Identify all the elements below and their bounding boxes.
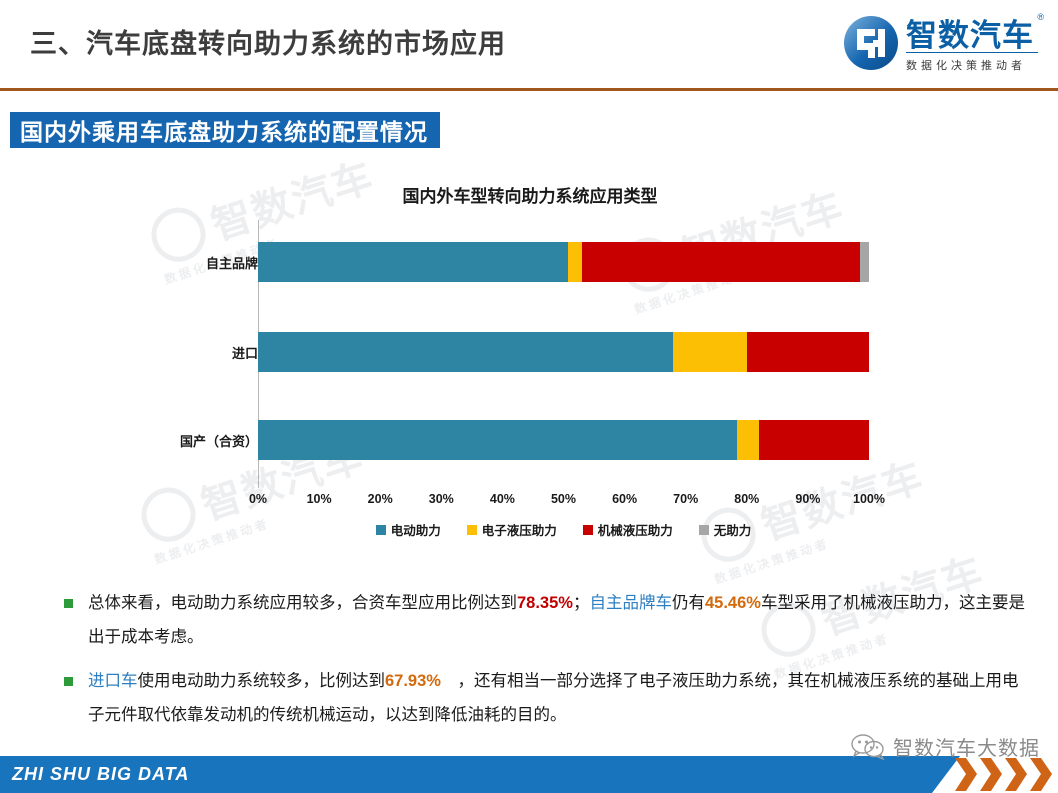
chart-bar-segment bbox=[258, 242, 568, 282]
chart-x-tick-label: 20% bbox=[368, 492, 393, 506]
chart-bar bbox=[258, 332, 869, 372]
brand-logo: 智数汽车 ® 数据化决策推动者 bbox=[842, 8, 1042, 82]
logo-emblem-icon bbox=[842, 14, 900, 72]
highlighted-text-run: 进口车 bbox=[88, 672, 138, 690]
chart-bar-segment bbox=[582, 242, 860, 282]
header-divider-rule bbox=[0, 88, 1058, 91]
logo-divider bbox=[906, 52, 1038, 53]
chart-bar-segment bbox=[258, 332, 673, 372]
chart-bar-segment bbox=[673, 332, 747, 372]
wechat-account-strip: 智数汽车大数据 bbox=[851, 732, 1040, 761]
bullet-text: 总体来看，电动助力系统应用较多，合资车型应用比例达到78.35%；自主品牌车仍有… bbox=[88, 594, 1025, 646]
chart-legend-item[interactable]: 电动助力 bbox=[376, 520, 441, 539]
chart-container: 国内外车型转向助力系统应用类型 自主品牌进口国产（合资） 0%10%20%30%… bbox=[130, 182, 920, 557]
chart-legend-item[interactable]: 机械液压助力 bbox=[583, 520, 673, 539]
highlighted-text-run: 78.35% bbox=[517, 594, 573, 612]
bullet-item: 进口车使用电动助力系统较多，比例达到67.93% ，还有相当一部分选择了电子液压… bbox=[62, 664, 1027, 732]
chevron-right-icon bbox=[1030, 758, 1052, 791]
chart-legend-swatch bbox=[699, 525, 709, 535]
wechat-icon bbox=[851, 734, 885, 760]
chart-bar-segment bbox=[759, 420, 869, 460]
footer-label: ZHI SHU BIG DATA bbox=[12, 764, 189, 785]
chevron-right-icon bbox=[1005, 758, 1027, 791]
chart-bar bbox=[258, 242, 869, 282]
logo-registered-mark: ® bbox=[1037, 12, 1044, 22]
chart-title: 国内外车型转向助力系统应用类型 bbox=[140, 182, 920, 207]
chart-legend-label: 无助力 bbox=[714, 520, 752, 539]
chart-x-tick-label: 0% bbox=[249, 492, 267, 506]
chart-bar-segment bbox=[258, 420, 737, 460]
wechat-account-label: 智数汽车大数据 bbox=[893, 732, 1040, 761]
text-run: 总体来看，电动助力系统应用较多，合资车型应用比例达到 bbox=[88, 594, 517, 612]
chart-bar-segment bbox=[737, 420, 759, 460]
chart-x-tick-label: 70% bbox=[673, 492, 698, 506]
bullet-item: 总体来看，电动助力系统应用较多，合资车型应用比例达到78.35%；自主品牌车仍有… bbox=[62, 586, 1027, 654]
chart-bar-segment bbox=[860, 242, 869, 282]
chart-legend: 电动助力电子液压助力机械液压助力无助力 bbox=[258, 520, 869, 539]
chart-x-axis-ticks: 0%10%20%30%40%50%60%70%80%90%100% bbox=[258, 492, 869, 512]
chart-legend-swatch bbox=[376, 525, 386, 535]
chart-x-tick-label: 80% bbox=[734, 492, 759, 506]
chart-bar-segment bbox=[568, 242, 582, 282]
chart-x-tick-label: 10% bbox=[307, 492, 332, 506]
chart-x-tick-label: 60% bbox=[612, 492, 637, 506]
page-title: 三、汽车底盘转向助力系统的市场应用 bbox=[30, 22, 506, 61]
text-run: ； bbox=[573, 594, 590, 612]
highlighted-text-run: 45.46% bbox=[705, 594, 761, 612]
section-banner-label: 国内外乘用车底盘助力系统的配置情况 bbox=[20, 113, 428, 147]
page-header: 三、汽车底盘转向助力系统的市场应用 智数汽车 ® 数据化决策推动者 bbox=[0, 0, 1058, 86]
chevron-right-icon bbox=[980, 758, 1002, 791]
text-run: 使用电动助力系统较多，比例达到 bbox=[138, 672, 386, 690]
bullet-square-icon bbox=[64, 677, 73, 686]
chart-legend-swatch bbox=[583, 525, 593, 535]
bullet-text: 进口车使用电动助力系统较多，比例达到67.93% ，还有相当一部分选择了电子液压… bbox=[88, 672, 1018, 724]
chart-category-label: 国产（合资） bbox=[180, 431, 258, 450]
footer-chevrons bbox=[955, 758, 1052, 791]
chart-x-tick-label: 90% bbox=[795, 492, 820, 506]
chart-legend-swatch bbox=[467, 525, 477, 535]
page-footer: ZHI SHU BIG DATA bbox=[0, 756, 1058, 793]
chart-bar bbox=[258, 420, 869, 460]
chart-legend-item[interactable]: 无助力 bbox=[699, 520, 752, 539]
chart-x-tick-label: 50% bbox=[551, 492, 576, 506]
chevron-right-icon bbox=[955, 758, 977, 791]
analysis-text-block: 总体来看，电动助力系统应用较多，合资车型应用比例达到78.35%；自主品牌车仍有… bbox=[62, 586, 1027, 742]
logo-tagline: 数据化决策推动者 bbox=[906, 57, 1026, 73]
chart-category-label: 进口 bbox=[232, 343, 258, 362]
chart-x-tick-label: 40% bbox=[490, 492, 515, 506]
chart-category-label: 自主品牌 bbox=[206, 253, 258, 272]
highlighted-text-run: 67.93% bbox=[385, 672, 441, 690]
logo-wordmark: 智数汽车 bbox=[906, 10, 1034, 55]
chart-x-tick-label: 30% bbox=[429, 492, 454, 506]
section-banner: 国内外乘用车底盘助力系统的配置情况 bbox=[10, 112, 440, 148]
highlighted-text-run: 自主品牌车 bbox=[589, 594, 672, 612]
chart-legend-label: 电子液压助力 bbox=[482, 520, 557, 539]
chart-legend-label: 电动助力 bbox=[391, 520, 441, 539]
chart-x-tick-label: 100% bbox=[853, 492, 885, 506]
chart-plot-area: 自主品牌进口国产（合资） 0%10%20%30%40%50%60%70%80%9… bbox=[130, 220, 920, 488]
chart-legend-label: 机械液压助力 bbox=[598, 520, 673, 539]
bullet-square-icon bbox=[64, 599, 73, 608]
text-run: 仍有 bbox=[672, 594, 705, 612]
chart-legend-item[interactable]: 电子液压助力 bbox=[467, 520, 557, 539]
chart-bar-segment bbox=[747, 332, 869, 372]
